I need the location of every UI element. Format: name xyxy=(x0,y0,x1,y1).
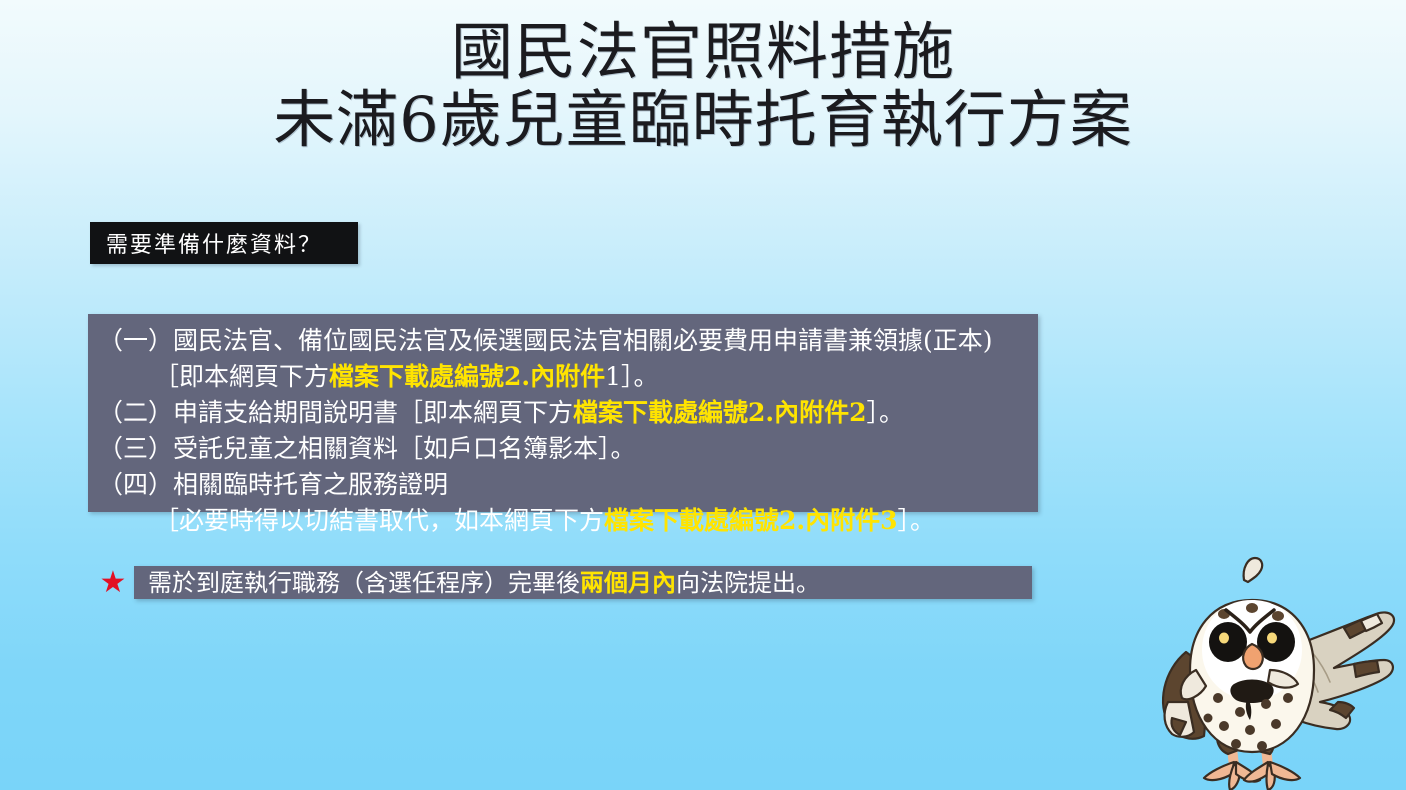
item-1-main-segment-0: （一）國民法官、備位國民法官及候選國民法官相關必要費用申請書兼領據(正本) xyxy=(98,326,993,355)
deadline-note-segment-0: 需於到庭執行職務（含選任程序）完畢後 xyxy=(148,569,580,597)
requirement-line: ［必要時得以切結書取代，如本網頁下方檔案下載處編號2.內附件3］。 xyxy=(98,503,1038,539)
item-2-segment-1: 檔案下載處編號2.內附件2 xyxy=(573,398,867,427)
requirement-line: ［即本網頁下方檔案下載處編號2.內附件1］。 xyxy=(98,359,1038,395)
requirement-line: （二）申請支給期間說明書［即本網頁下方檔案下載處編號2.內附件2］。 xyxy=(98,395,1038,431)
requirements-panel: （一）國民法官、備位國民法官及候選國民法官相關必要費用申請書兼領據(正本)［即本… xyxy=(88,314,1038,512)
deadline-note-segment-1: 兩個月內 xyxy=(580,568,676,597)
item-1-sub-segment-2: 1］。 xyxy=(605,362,658,391)
item-1-sub-segment-1: 檔案下載處編號2.內附件 xyxy=(329,362,605,391)
title-line-2: 未滿6歲兒童臨時托育執行方案 xyxy=(0,86,1406,154)
deadline-note-segment-2: 向法院提出。 xyxy=(676,569,820,597)
title-line-1: 國民法官照料措施 xyxy=(0,18,1406,86)
star-icon: ★ xyxy=(98,568,128,598)
deadline-note-row: ★ 需於到庭執行職務（含選任程序）完畢後兩個月內向法院提出。 xyxy=(98,566,1032,599)
section-heading-label: 需要準備什麼資料？ xyxy=(90,227,322,259)
item-4-main-segment-0: （四）相關臨時托育之服務證明 xyxy=(98,470,448,499)
requirement-line: （三）受託兒童之相關資料［如戶口名簿影本］。 xyxy=(98,431,1038,467)
page-title: 國民法官照料措施 未滿6歲兒童臨時托育執行方案 xyxy=(0,18,1406,154)
item-2-segment-0: （二）申請支給期間說明書［即本網頁下方 xyxy=(98,398,573,427)
deadline-note-text: 需於到庭執行職務（含選任程序）完畢後兩個月內向法院提出。 xyxy=(134,566,820,600)
item-4-sub-segment-0: ［必要時得以切結書取代，如本網頁下方 xyxy=(154,506,604,535)
requirement-line: （一）國民法官、備位國民法官及候選國民法官相關必要費用申請書兼領據(正本) xyxy=(98,323,1038,359)
deadline-note-bar: 需於到庭執行職務（含選任程序）完畢後兩個月內向法院提出。 xyxy=(134,566,1032,599)
item-2-segment-2: ］。 xyxy=(867,398,905,427)
owl-mascot xyxy=(1148,552,1406,790)
item-4-sub-segment-2: ］。 xyxy=(898,506,936,535)
section-heading-chip: 需要準備什麼資料？ xyxy=(90,222,358,264)
item-3-segment-0: （三）受託兒童之相關資料［如戶口名簿影本］。 xyxy=(98,434,636,463)
item-1-sub-segment-0: ［即本網頁下方 xyxy=(154,362,329,391)
requirement-line: （四）相關臨時托育之服務證明 xyxy=(98,467,1038,503)
item-4-sub-segment-1: 檔案下載處編號2.內附件3 xyxy=(604,506,898,535)
